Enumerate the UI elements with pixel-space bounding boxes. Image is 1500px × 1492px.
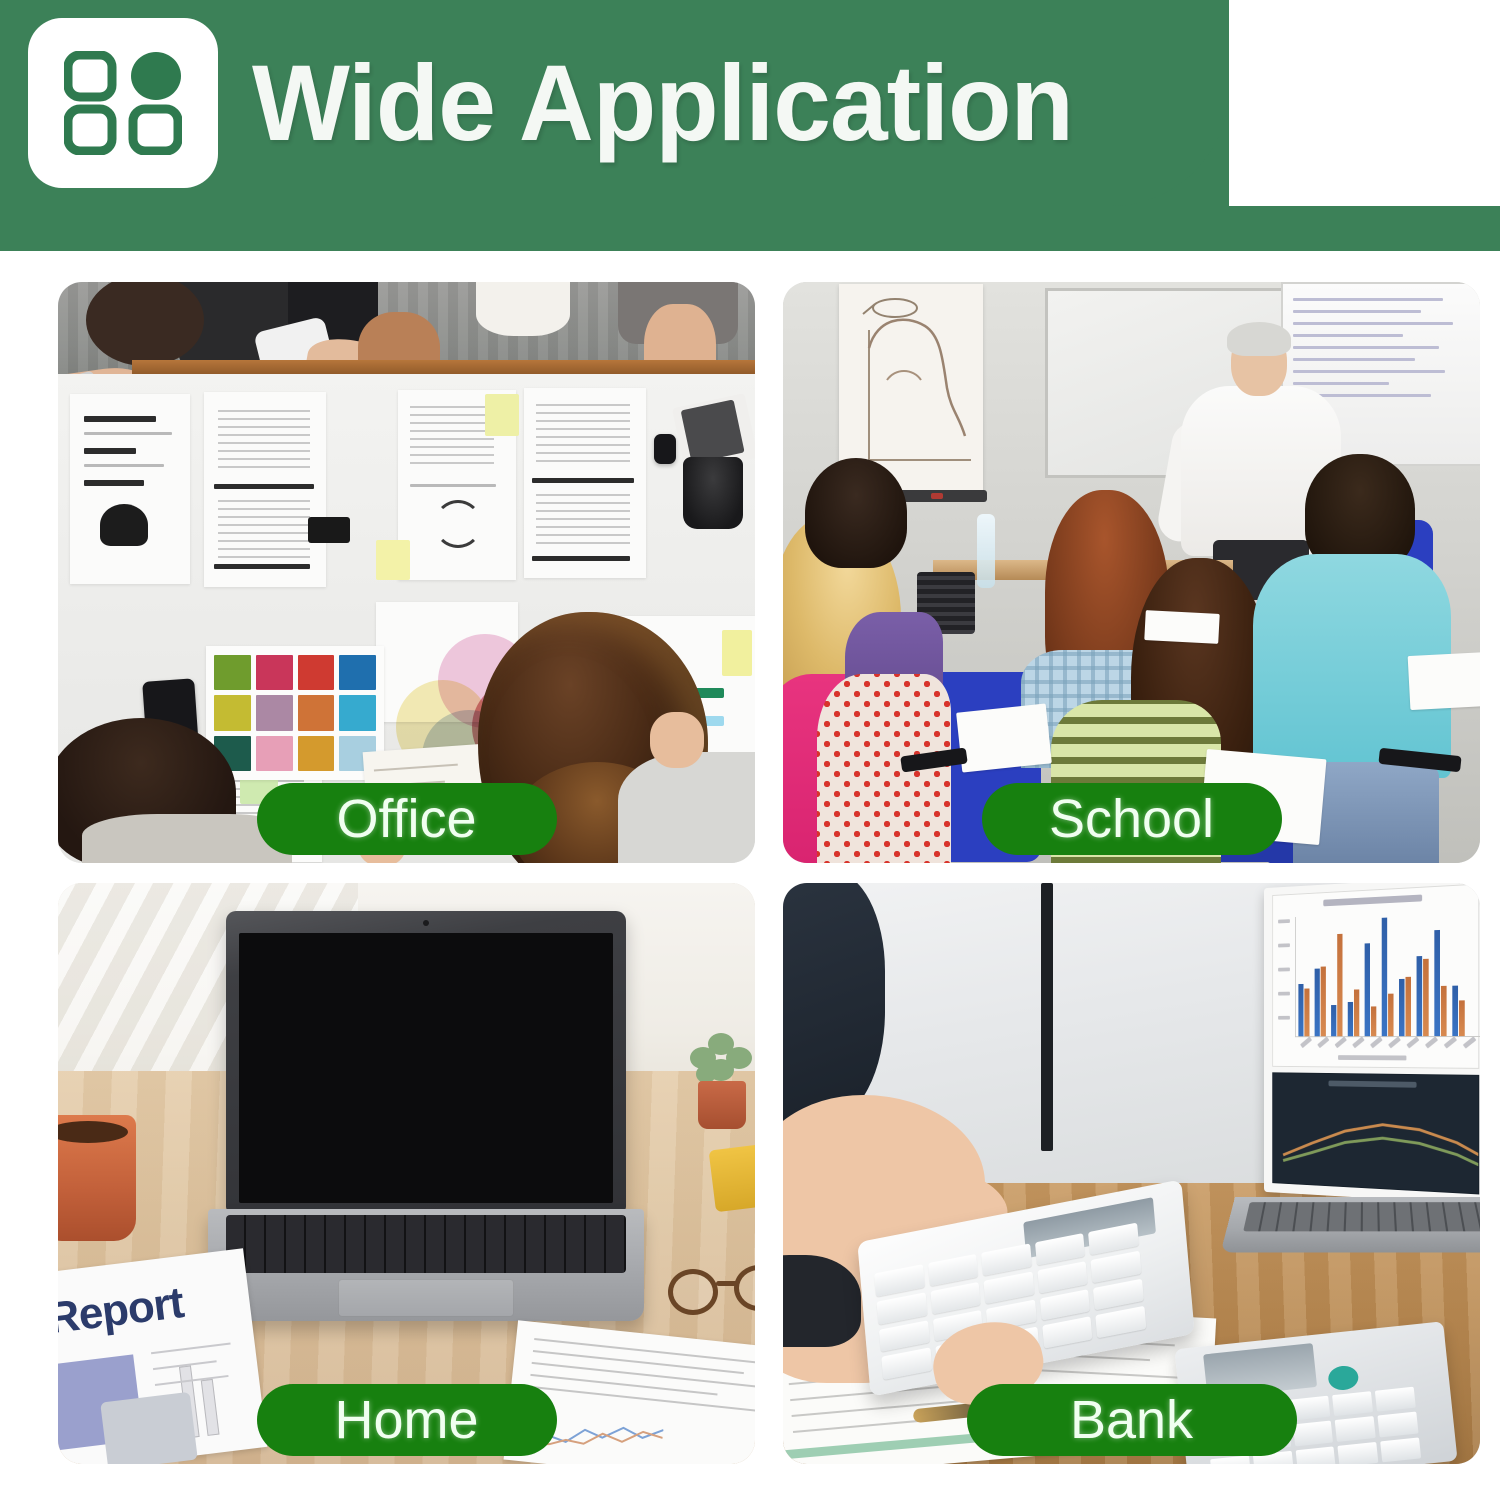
header-banner-strip xyxy=(0,206,1500,251)
promo-page: Wide Application xyxy=(0,0,1500,1492)
home-laptop-camera xyxy=(423,920,429,926)
panel-bank[interactable]: Bank xyxy=(783,883,1480,1464)
home-yellow-notebook xyxy=(709,1140,755,1213)
panel-label-home: Home xyxy=(257,1384,557,1456)
office-document xyxy=(204,392,326,587)
office-scene-photo xyxy=(58,282,755,863)
school-notepaper xyxy=(1144,610,1219,644)
office-document xyxy=(70,394,190,584)
office-binder-clip xyxy=(308,517,350,543)
bank-bar-chart xyxy=(1272,884,1479,1069)
office-pen-cup xyxy=(683,457,743,529)
office-sticky-note xyxy=(376,540,410,580)
home-scene-photo: Report xyxy=(58,883,755,1464)
bank-chart-x-axis-title xyxy=(1338,1055,1406,1060)
bank-chart-y-axis xyxy=(1295,917,1296,1036)
school-teacher-hair xyxy=(1227,322,1291,356)
home-coffee-mug xyxy=(58,1115,136,1241)
home-eyeglasses xyxy=(668,1265,755,1317)
office-color-swatch-sheet xyxy=(206,646,384,780)
bank-chart-bars xyxy=(1298,908,1480,1036)
bank-secondary-chart xyxy=(1272,1072,1479,1194)
panel-label-text: Home xyxy=(334,1393,478,1447)
panel-office[interactable]: Office xyxy=(58,282,755,863)
home-report-title: Report xyxy=(58,1278,186,1344)
bank-laptop-screen xyxy=(1264,883,1480,1205)
bank-chart-x-ticklabels xyxy=(1298,1040,1480,1054)
panel-home[interactable]: Report xyxy=(58,883,755,1464)
office-sticky-note xyxy=(722,630,752,676)
application-grid: Office xyxy=(58,282,1442,1464)
home-laptop-trackpad xyxy=(338,1279,514,1317)
home-laptop-keyboard xyxy=(226,1215,626,1273)
office-sticky-note xyxy=(485,394,519,436)
office-hand xyxy=(650,712,704,768)
school-water-bottle xyxy=(977,514,995,588)
panel-label-bank: Bank xyxy=(967,1384,1297,1456)
school-scene-photo xyxy=(783,282,1480,863)
office-document xyxy=(524,388,646,578)
office-smartphone xyxy=(654,434,676,464)
home-report-bar xyxy=(201,1379,220,1436)
school-notepaper xyxy=(956,703,1052,772)
app-grid-icon xyxy=(28,18,218,188)
header-content: Wide Application xyxy=(0,0,1229,206)
bank-window-mullion xyxy=(1041,883,1053,1151)
panel-label-school: School xyxy=(982,783,1282,855)
panel-school[interactable]: School xyxy=(783,282,1480,863)
panel-label-text: Office xyxy=(336,792,476,846)
bank-secondary-chart-title xyxy=(1328,1081,1416,1088)
header-banner: Wide Application xyxy=(0,0,1500,251)
bank-calculator-power-key[interactable] xyxy=(1327,1364,1359,1391)
bank-chart-title xyxy=(1323,895,1422,907)
bank-laptop-keyboard xyxy=(1221,1197,1480,1253)
bank-laptop xyxy=(1235,883,1480,1271)
panel-label-text: Bank xyxy=(1070,1393,1193,1447)
school-student-darkhair xyxy=(805,458,907,568)
office-color-swatch-grid xyxy=(214,655,376,771)
office-woman-shoulder xyxy=(618,752,755,863)
home-plant-pot xyxy=(698,1081,746,1129)
bank-chart-y-ticks xyxy=(1276,919,1291,1036)
bank-person-shoulder xyxy=(783,883,885,1121)
panel-label-text: School xyxy=(1049,792,1214,846)
bank-scene-photo xyxy=(783,883,1480,1464)
school-student-shorthair xyxy=(1305,454,1415,570)
home-phone xyxy=(100,1392,198,1464)
panel-label-office: Office xyxy=(257,783,557,855)
school-notepaper xyxy=(1408,652,1480,710)
home-laptop-base xyxy=(208,1209,644,1321)
office-white-garment xyxy=(476,282,570,336)
page-title: Wide Application xyxy=(252,49,1073,157)
header-banner-notch xyxy=(1229,0,1500,206)
home-laptop-screen xyxy=(226,911,626,1211)
